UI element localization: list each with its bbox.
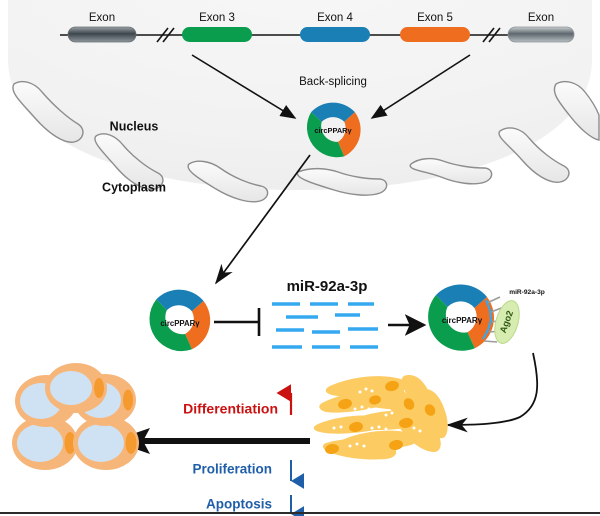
- backsplicing-label: Back-splicing: [299, 76, 367, 88]
- outcome-proliferation: Proliferation: [192, 460, 291, 481]
- outcome-label: Apoptosis: [206, 497, 272, 512]
- exon-bar: [182, 27, 252, 42]
- myotube-cell: [45, 363, 107, 413]
- cell-cytoplasm: [78, 424, 124, 462]
- circrna-label: circPPARγ: [442, 316, 483, 325]
- pathway-figure: Exon Exon 3 Exon 4 Exon 5 Exon Back-spli…: [0, 0, 600, 516]
- exon-bar: [300, 27, 370, 42]
- circrna-sponge-complex: circPPARγ Ago2 miR-92a-3p: [428, 284, 545, 350]
- exon-label: Exon: [89, 12, 115, 24]
- exon-bar: [68, 27, 136, 42]
- cell-nucleus: [126, 432, 137, 454]
- mirna-strand-group: [272, 304, 378, 347]
- exon-label: Exon 3: [199, 12, 235, 24]
- cytoplasm-label: Cytoplasm: [102, 180, 166, 194]
- exon-label: Exon: [528, 12, 554, 24]
- myotube-cluster: [12, 363, 139, 470]
- circrna-label: circPPARγ: [160, 319, 200, 328]
- cell-cytoplasm: [17, 424, 63, 462]
- circrna-label: circPPARγ: [314, 126, 352, 135]
- myoblast-cluster: [314, 375, 448, 459]
- inhibition-connector: [214, 308, 259, 336]
- cell-cytoplasm: [50, 371, 92, 405]
- cell-nucleus: [94, 378, 104, 398]
- cell-nucleus: [123, 390, 133, 411]
- outcome-label: Proliferation: [192, 462, 272, 477]
- bound-mirna-label: miR-92a-3p: [509, 289, 545, 296]
- mirna-pool-label: miR-92a-3p: [287, 278, 368, 295]
- outcome-label: Differentiation: [183, 401, 278, 417]
- exon-label: Exon 5: [417, 12, 453, 24]
- base-pair-rung: [484, 341, 497, 342]
- outcome-apoptosis: Apoptosis: [206, 495, 291, 514]
- circrna-cytoplasmic: circPPARγ: [149, 290, 210, 351]
- exon-bar: [508, 27, 574, 42]
- nucleus-label: Nucleus: [110, 119, 159, 133]
- exon-bar: [400, 27, 470, 42]
- outcome-differentiation: Differentiation: [183, 393, 291, 417]
- exon-label: Exon 4: [317, 12, 353, 24]
- effect-arrow-to-myoblasts: [448, 353, 537, 425]
